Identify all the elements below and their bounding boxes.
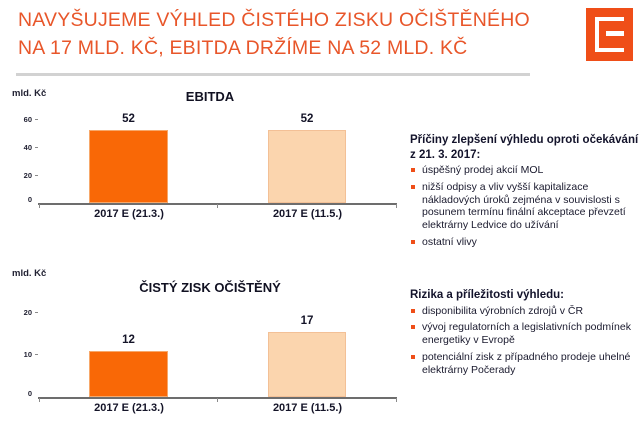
chart-ebitda-bar-1 bbox=[89, 130, 168, 203]
list-item: disponibilita výrobních zdrojů v ČR bbox=[410, 305, 640, 318]
chart-net-profit-bar-1-value: 12 bbox=[89, 334, 168, 346]
chart-net-profit-ytick-mark-20 bbox=[35, 312, 38, 313]
chart-ebitda-title: EBITDA bbox=[150, 89, 270, 104]
chart-net-profit-xtick-mid bbox=[217, 398, 218, 402]
chart-ebitda-xtick-left bbox=[39, 204, 40, 208]
chart-net-profit-title: ČISTÝ ZISK OČIŠTĚNÝ bbox=[120, 280, 300, 295]
chart-ebitda-bar-1-value: 52 bbox=[89, 113, 168, 125]
panel-risks-list: disponibilita výrobních zdrojů v ČR vývo… bbox=[410, 305, 640, 377]
chart-net-profit-bar-2 bbox=[268, 332, 346, 397]
list-item: nižší odpisy a vliv vyšší kapitalizace n… bbox=[410, 181, 640, 232]
list-item: ostatní vlivy bbox=[410, 236, 640, 249]
logo-glyph-bottom-bar bbox=[606, 48, 624, 52]
logo-glyph-middle-bar bbox=[606, 31, 624, 36]
chart-ebitda-xlabel-1: 2017 E (21.3.) bbox=[68, 208, 190, 220]
panel-reasons-heading: Příčiny zlepšení výhledu oproti očekáván… bbox=[410, 133, 640, 162]
cez-logo-icon bbox=[586, 8, 633, 61]
list-item: úspěšný prodej akcií MOL bbox=[410, 164, 640, 177]
page-title-line-2: NA 17 MLD. KČ, EBITDA DRŽÍME NA 52 MLD. … bbox=[18, 34, 538, 62]
chart-net-profit-xlabel-1: 2017 E (21.3.) bbox=[68, 402, 190, 414]
chart-net-profit-unit-label: mld. Kč bbox=[12, 268, 46, 279]
chart-ebitda-bar-2-value: 52 bbox=[268, 113, 346, 125]
chart-net-profit-bar-2-value: 17 bbox=[268, 315, 346, 327]
chart-net-profit-ytick-20: 20 bbox=[14, 308, 32, 317]
chart-ebitda-xlabel-2: 2017 E (11.5.) bbox=[248, 208, 367, 220]
header-divider bbox=[16, 73, 530, 76]
chart-net-profit-xtick-left bbox=[39, 398, 40, 402]
page-title-line-1: NAVYŠUJEME VÝHLED ČISTÉHO ZISKU OČIŠTĚNÉ… bbox=[18, 6, 538, 34]
chart-ebitda-unit-label: mld. Kč bbox=[12, 88, 46, 99]
logo-glyph-top-bar bbox=[606, 17, 624, 21]
chart-net-profit-ytick-mark-10 bbox=[35, 354, 38, 355]
panel-reasons-list: úspěšný prodej akcií MOL nižší odpisy a … bbox=[410, 164, 640, 249]
panel-risks-heading: Rizika a příležitosti výhledu: bbox=[410, 288, 640, 303]
page-title: NAVYŠUJEME VÝHLED ČISTÉHO ZISKU OČIŠTĚNÉ… bbox=[18, 6, 538, 62]
chart-net-profit-ytick-10: 10 bbox=[14, 350, 32, 359]
chart-net-profit-ytick-0: 0 bbox=[14, 389, 32, 398]
chart-ebitda-ytick-40: 40 bbox=[14, 143, 32, 152]
chart-ebitda-ytick-60: 60 bbox=[14, 115, 32, 124]
chart-ebitda-xtick-right bbox=[396, 204, 397, 208]
chart-net-profit-bar-1 bbox=[89, 351, 168, 397]
chart-ebitda: mld. Kč EBITDA 60 40 20 0 52 52 2017 E (… bbox=[0, 88, 400, 238]
panel-risks: Rizika a příležitosti výhledu: disponibi… bbox=[410, 288, 640, 380]
chart-ebitda-ytick-0: 0 bbox=[14, 195, 32, 204]
chart-ebitda-ytick-20: 20 bbox=[14, 171, 32, 180]
list-item: potenciální zisk z případného prodeje uh… bbox=[410, 351, 640, 377]
chart-ebitda-ytick-mark-40 bbox=[35, 147, 38, 148]
list-item: vývoj regulatorních a legislativních pod… bbox=[410, 321, 640, 347]
chart-net-profit-xtick-right bbox=[396, 398, 397, 402]
panel-reasons: Příčiny zlepšení výhledu oproti očekáván… bbox=[410, 133, 640, 253]
chart-ebitda-bar-2 bbox=[268, 130, 346, 203]
chart-ebitda-xtick-mid bbox=[217, 204, 218, 208]
chart-ebitda-ytick-mark-60 bbox=[35, 119, 38, 120]
chart-net-profit: mld. Kč ČISTÝ ZISK OČIŠTĚNÝ 20 10 0 12 1… bbox=[0, 268, 400, 423]
chart-ebitda-ytick-mark-20 bbox=[35, 175, 38, 176]
chart-net-profit-xlabel-2: 2017 E (11.5.) bbox=[248, 402, 367, 414]
